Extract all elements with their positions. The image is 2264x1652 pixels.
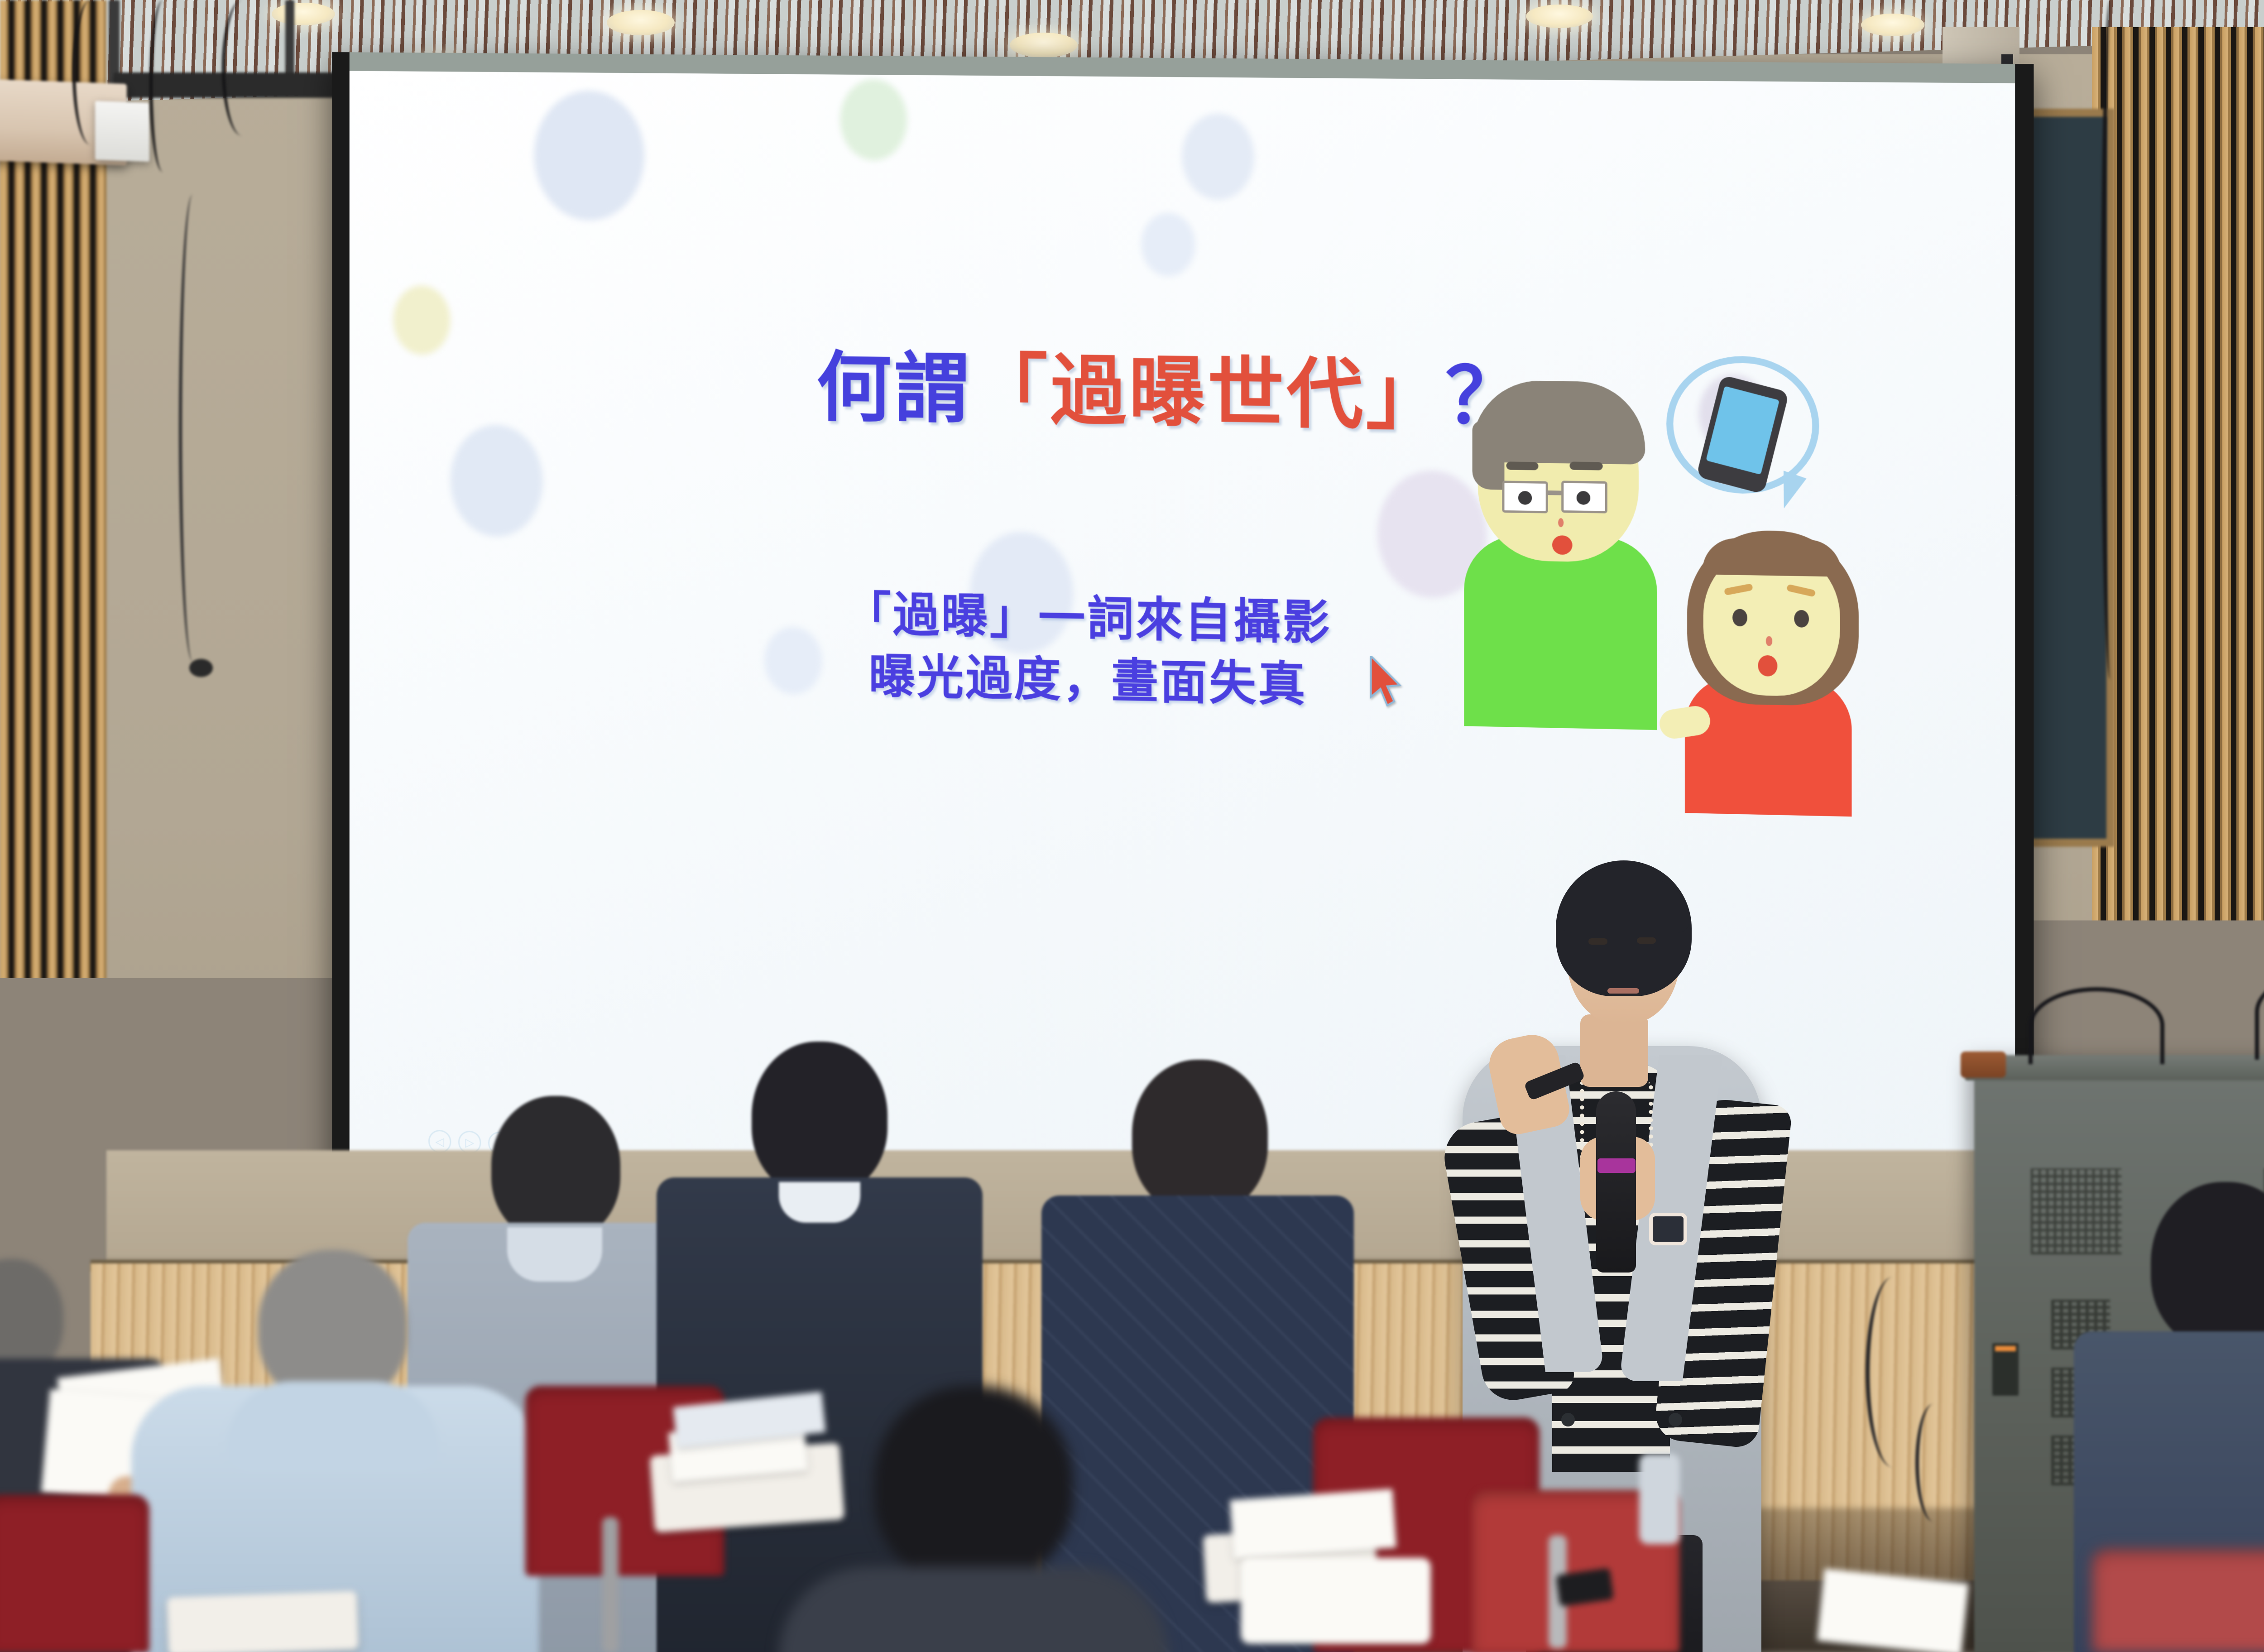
attendee-head [258,1250,408,1404]
microphone-band [1597,1158,1636,1173]
ceiling-downlight [607,10,675,35]
auditorium-seat [0,1494,149,1652]
seat-writing-tablet [167,1591,359,1652]
wall-outlet-plate [9,1073,54,1139]
water-bottle [1639,1454,1680,1544]
projector-mount-rod [285,0,294,77]
handout-paper [1230,1489,1396,1559]
decor-circle-blue [1182,113,1254,200]
handout-paper [1241,1558,1431,1644]
cartoon-girl-eye-right [1794,610,1809,628]
attendee-head [2151,1182,2264,1349]
ceiling-downlight [1526,5,1593,28]
presenter-neck [1580,1014,1648,1087]
attendee-head [752,1042,887,1196]
lectern-power-switch[interactable] [1992,1343,2019,1396]
attendee-shirt-collar [779,1182,860,1223]
ceiling-downlight [1010,33,1078,58]
presenter-hair-fringe [1560,879,1689,933]
attendee-head [1132,1060,1268,1214]
ceiling-downlight [1861,14,1924,36]
cartoon-boy-eye-left [1518,491,1532,505]
cartoon-boy-mouth [1552,535,1573,555]
title-part-3: ？ [1445,351,1525,442]
mic-cable [179,195,206,661]
attendee-head [874,1386,1073,1585]
mouse-pointer-icon [1368,656,1409,711]
handout-paper [1817,1569,1969,1652]
projector-cable [222,0,263,136]
cartoon-boy-nose [1558,518,1564,527]
lectern-mic-cable [2029,987,2164,1064]
decor-circle-blue [451,424,543,538]
presenter-jacket-button [1561,1413,1575,1426]
seat-frame [602,1517,619,1652]
lecture-hall-scene: 何謂「過曝世代」？ 「過曝」一詞來自攝影 曝光過度，畫面失真 ◁ ▷ ✎ ▤ ⌕… [0,0,2264,1652]
decor-circle-blue [1141,212,1195,276]
attendee-hood [226,1381,439,1472]
attendee-head [491,1096,620,1241]
microphone [1596,1091,1636,1273]
presenter-mouth [1607,988,1639,994]
attendee-body [779,1567,1168,1652]
ceiling-downlight [272,3,335,25]
cartoon-boy-eyebrow-left [1506,461,1539,470]
slide-body: 「過曝」一詞來自攝影 曝光過度，畫面失真 [596,579,1588,722]
hanging-microphone [189,659,213,677]
slide-title: 何謂「過曝世代」？ [350,320,2015,453]
projector-cable [149,0,177,172]
cartoon-boy-glasses-bridge [1548,490,1562,495]
title-part-2: 「過曝世代」 [972,345,1445,441]
cartoon-boy-eyebrow-right [1569,461,1602,470]
cartoon-boy-eye-right [1577,491,1590,505]
cartoon-girl-eye-left [1732,609,1747,626]
title-part-1: 何謂 [816,343,972,434]
presenter-eye-right [1637,937,1656,944]
presenter-eye-left [1588,938,1607,945]
cartoon-girl-mouth [1758,655,1777,677]
wall-cable-run [2101,0,2119,679]
lectern-corner-cap-left [1961,1052,2006,1078]
presenter-jacket-button [1669,1413,1682,1426]
cartoon-girl-nose [1766,636,1772,646]
decor-circle-blue [534,90,644,221]
projector-cable [72,0,109,145]
floor-cable [1915,1404,1952,1522]
smartwatch [1649,1213,1687,1245]
auditorium-seat [2092,1549,2264,1652]
cartoon-girl-bangs [1703,538,1842,577]
floor-cable [1866,1277,1920,1467]
decor-circle-green [840,79,907,161]
